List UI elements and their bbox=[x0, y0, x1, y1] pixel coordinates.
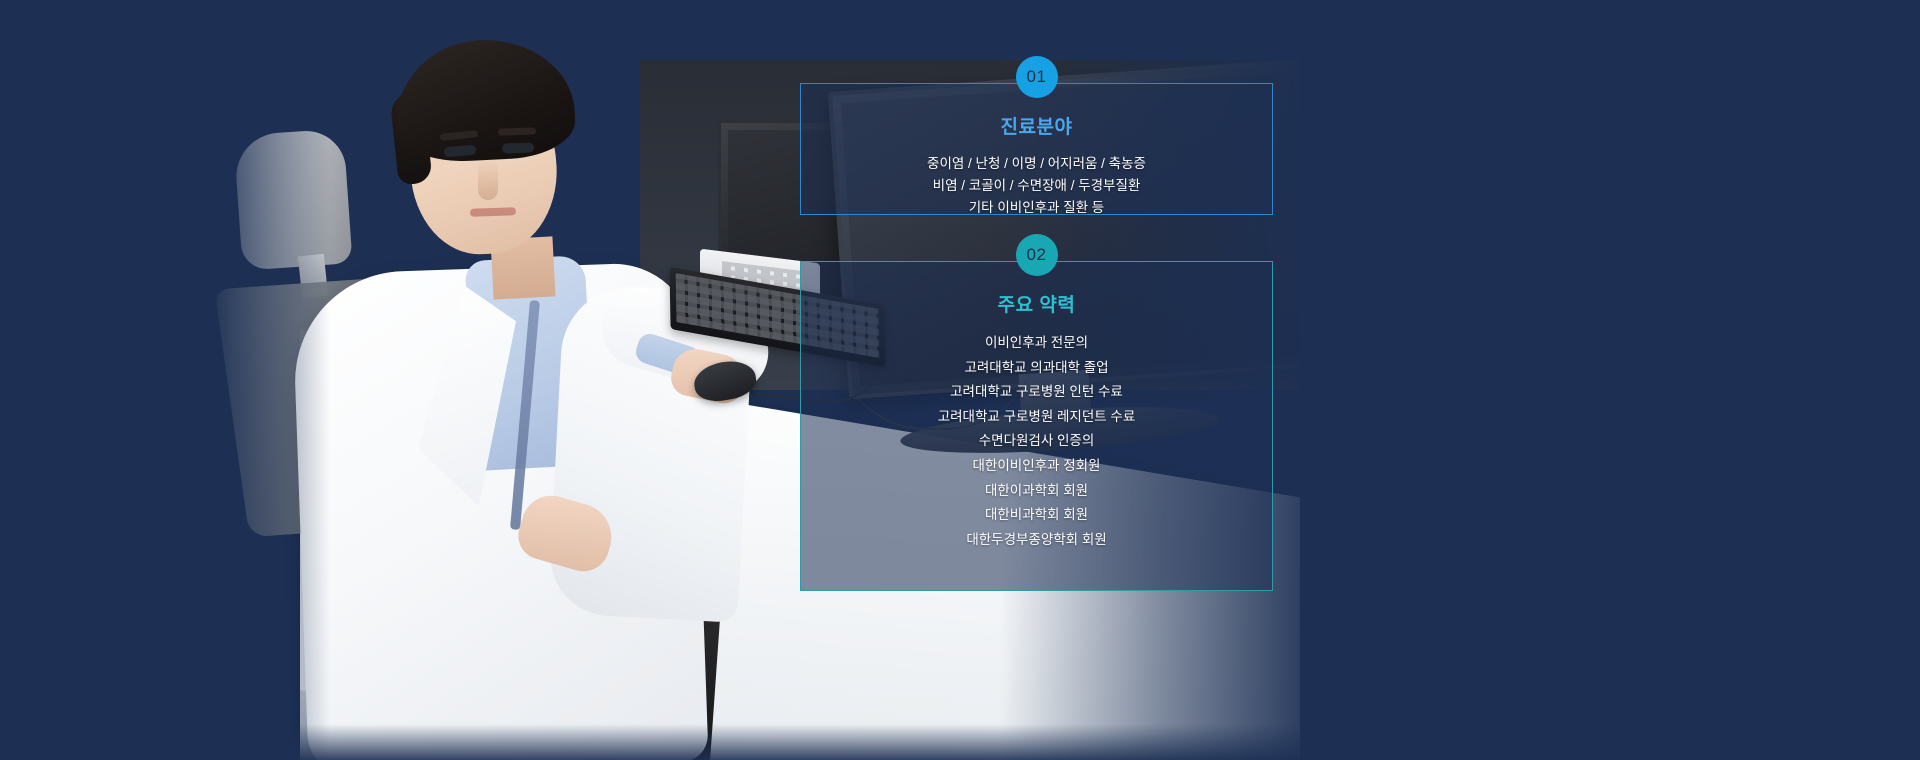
specialty-panel-title: 진료분야 bbox=[801, 112, 1272, 139]
list-item: 이비인후과 전문의 bbox=[801, 331, 1272, 356]
list-item: 기타 이비인후과 질환 등 bbox=[801, 197, 1272, 219]
doctor-nose bbox=[478, 160, 498, 200]
list-item: 대한비과학회 회원 bbox=[801, 503, 1272, 528]
doctor-profile-banner: 01 진료분야 중이염 / 난청 / 이명 / 어지러움 / 축농증 비염 / … bbox=[0, 0, 1920, 760]
list-item: 고려대학교 구로병원 인턴 수료 bbox=[801, 380, 1272, 405]
photo-left-fade bbox=[0, 0, 330, 760]
doctor-eyebrow-right bbox=[498, 127, 536, 135]
specialty-panel: 01 진료분야 중이염 / 난청 / 이명 / 어지러움 / 축농증 비염 / … bbox=[800, 83, 1273, 215]
career-panel: 02 주요 약력 이비인후과 전문의 고려대학교 의과대학 졸업 고려대학교 구… bbox=[800, 261, 1273, 591]
list-item: 대한이과학회 회원 bbox=[801, 479, 1272, 504]
career-list: 이비인후과 전문의 고려대학교 의과대학 졸업 고려대학교 구로병원 인턴 수료… bbox=[801, 331, 1272, 552]
doctor-eye-right bbox=[502, 142, 534, 153]
list-item: 고려대학교 의과대학 졸업 bbox=[801, 356, 1272, 381]
list-item: 대한이비인후과 정회원 bbox=[801, 454, 1272, 479]
doctor-mouth bbox=[470, 207, 516, 217]
list-item: 대한두경부종양학회 회원 bbox=[801, 528, 1272, 553]
career-panel-title: 주요 약력 bbox=[801, 290, 1272, 317]
photo-bottom-fade bbox=[0, 724, 1300, 760]
career-badge-number: 02 bbox=[1016, 234, 1058, 276]
specialty-list: 중이염 / 난청 / 이명 / 어지러움 / 축농증 비염 / 코골이 / 수면… bbox=[801, 153, 1272, 219]
list-item: 고려대학교 구로병원 레지던트 수료 bbox=[801, 405, 1272, 430]
list-item: 중이염 / 난청 / 이명 / 어지러움 / 축농증 bbox=[801, 153, 1272, 175]
specialty-badge-number: 01 bbox=[1016, 56, 1058, 98]
list-item: 수면다원검사 인증의 bbox=[801, 429, 1272, 454]
list-item: 비염 / 코골이 / 수면장애 / 두경부질환 bbox=[801, 175, 1272, 197]
